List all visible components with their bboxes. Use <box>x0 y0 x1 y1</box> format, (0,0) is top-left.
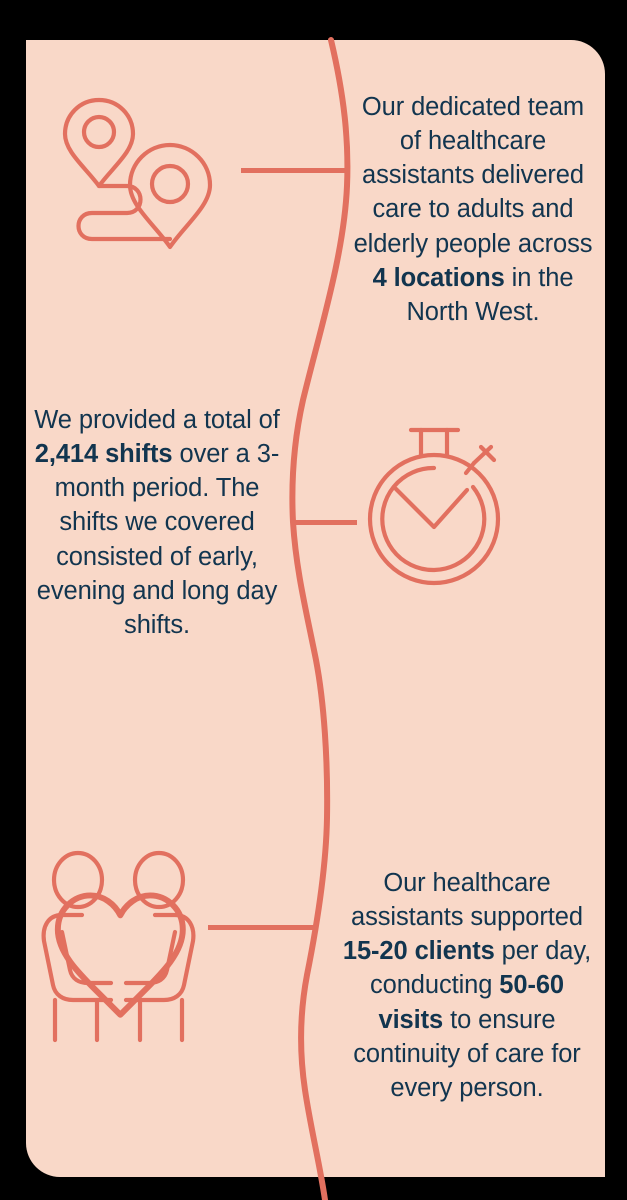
highlight-text: 15-20 clients <box>343 937 495 965</box>
body-text: Our dedicated team of healthcare assista… <box>354 93 593 258</box>
section-text-shifts: We provided a total of 2,414 shifts over… <box>32 403 282 642</box>
body-text: Our healthcare assistants supported <box>351 869 583 931</box>
highlight-text: 4 locations <box>373 264 505 292</box>
body-text: We provided a total of <box>34 406 279 434</box>
section-text-clients: Our healthcare assistants supported 15-2… <box>338 866 596 1105</box>
section-text-locations: Our dedicated team of healthcare assista… <box>350 90 596 329</box>
body-text: over a 3-month period. The shifts we cov… <box>37 440 279 639</box>
highlight-text: 2,414 shifts <box>35 440 173 468</box>
